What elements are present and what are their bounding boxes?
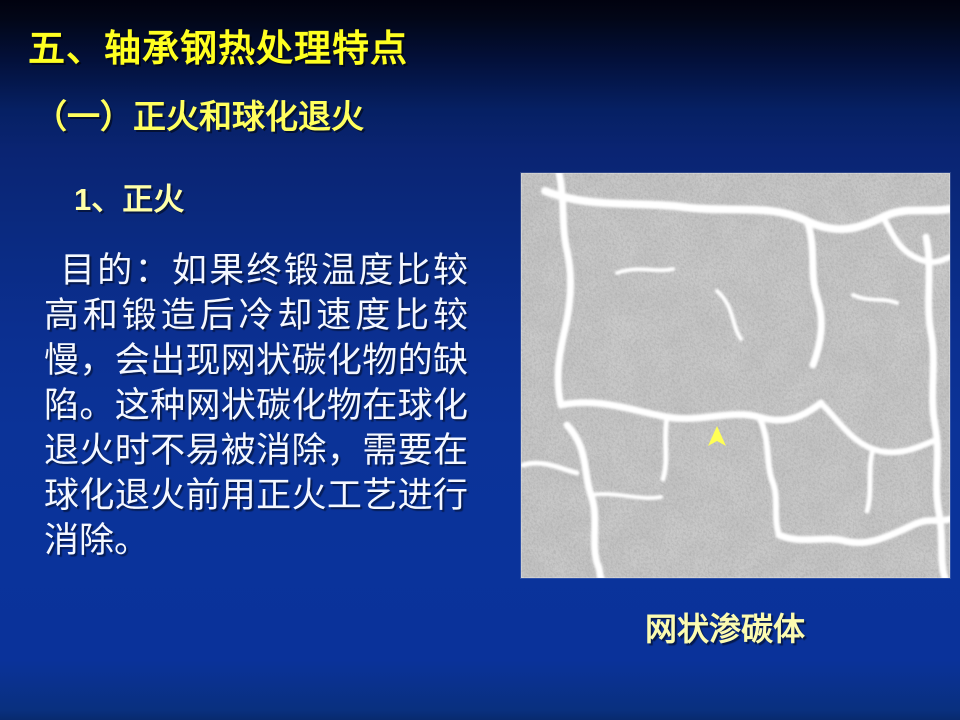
micrograph-svg <box>521 173 950 578</box>
item-title: 1、正火 <box>74 180 184 220</box>
micrograph-image <box>521 173 950 578</box>
subsection-title: （一）正火和球化退火 <box>34 96 364 138</box>
section-title: 五、轴承钢热处理特点 <box>28 26 408 72</box>
body-paragraph: 目的：如果终锻温度比较高和锻造后冷却速度比较慢，会出现网状碳化物的缺陷。这种网状… <box>44 248 468 563</box>
figure-caption: 网状渗碳体 <box>560 608 890 650</box>
slide-canvas: 五、轴承钢热处理特点 （一）正火和球化退火 1、正火 目的：如果终锻温度比较高和… <box>0 0 960 720</box>
